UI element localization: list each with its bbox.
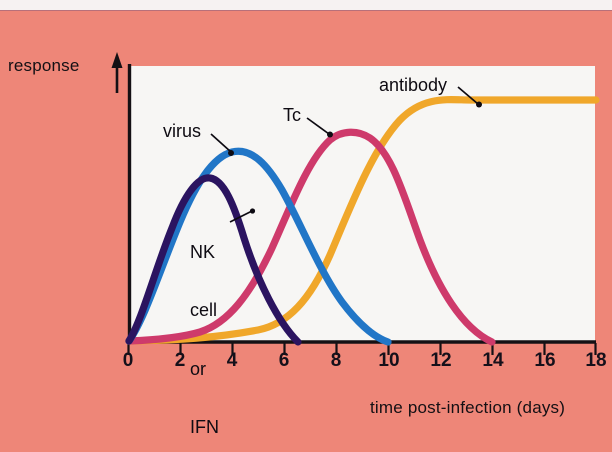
- curve-label-nk-line-1: NK: [190, 243, 219, 262]
- curve-label-tc: Tc: [283, 106, 301, 124]
- x-tick-label-0: 0: [113, 350, 143, 372]
- up-arrow-icon: [112, 52, 123, 93]
- curve-tc: [129, 132, 492, 342]
- x-tick-label-16: 16: [530, 350, 560, 372]
- chart-canvas: [0, 0, 612, 452]
- x-axis-title: time post-infection (days): [370, 398, 565, 418]
- curve-label-nk-line-2: cell: [190, 301, 219, 320]
- curve-label-nk-line-3: or: [190, 360, 219, 379]
- curve-label-virus: virus: [163, 122, 201, 140]
- curve-label-antibody: antibody: [379, 76, 447, 94]
- leader-line-tc: [307, 118, 333, 138]
- x-tick-label-4: 4: [217, 350, 247, 372]
- x-tick-label-12: 12: [426, 350, 456, 372]
- x-tick-label-8: 8: [321, 350, 351, 372]
- x-tick-label-14: 14: [478, 350, 508, 372]
- curve-label-nk-line-4: IFN: [190, 418, 219, 437]
- immune-response-figure: response time post-infection (days) 0 2 …: [0, 0, 612, 452]
- y-axis-title: response: [8, 56, 80, 76]
- x-tick-label-10: 10: [374, 350, 404, 372]
- x-tick-label-18: 18: [581, 350, 611, 372]
- curve-label-nk-ifn: NK cell or IFN: [190, 204, 219, 452]
- x-tick-label-6: 6: [269, 350, 299, 372]
